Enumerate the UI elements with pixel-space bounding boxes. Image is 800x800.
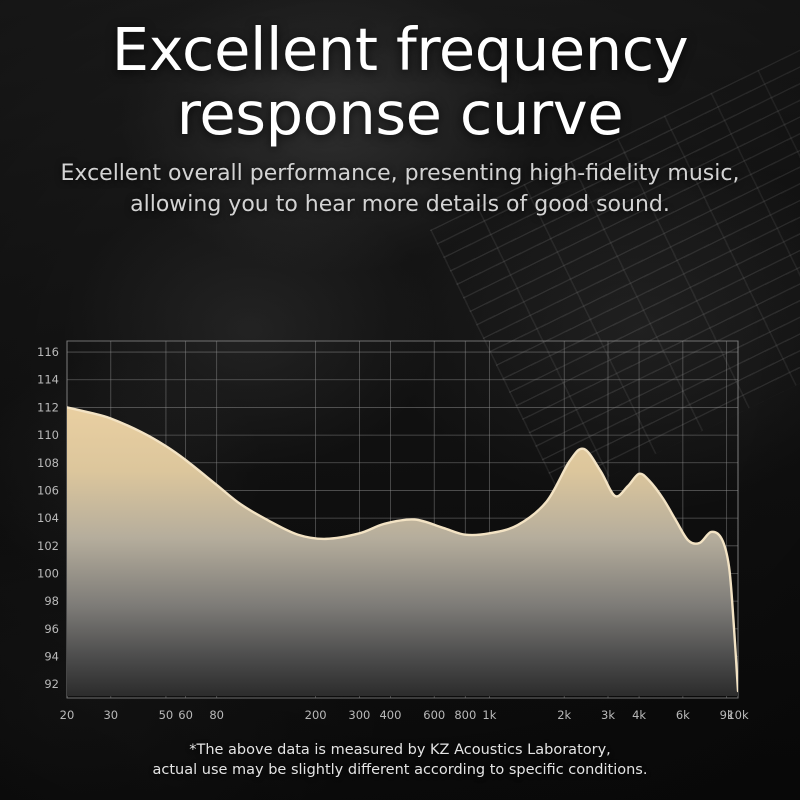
page-title: Excellent frequency response curve [0,0,800,146]
x-axis-tick-label: 50 [159,708,174,722]
y-axis-tick-label: 110 [37,428,59,442]
y-axis-tick-label: 106 [37,483,59,497]
title-line-2: response curve [0,82,800,146]
y-axis-tick-labels: 11611411211010810610410210098969492 [37,345,59,691]
y-axis-tick-label: 102 [37,539,59,553]
x-axis-tick-label: 80 [209,708,224,722]
subtitle-line-1: Excellent overall performance, presentin… [61,161,740,186]
y-axis-tick-label: 108 [37,456,59,470]
x-axis-tick-label: 1k [482,708,496,722]
y-axis-tick-label: 116 [37,345,59,359]
footnote-line-1: *The above data is measured by KZ Acoust… [189,742,611,758]
x-axis-tick-label: 300 [348,708,370,722]
subtitle-line-2: allowing you to hear more details of goo… [0,189,800,220]
y-axis-tick-label: 92 [44,677,59,691]
x-axis-tick-label: 20 [60,708,75,722]
x-axis-tick-label: 60 [178,708,193,722]
chart-area-fill [67,407,738,698]
y-axis-tick-label: 112 [37,400,59,414]
x-axis-tick-label: 6k [676,708,690,722]
chart-svg: 11611411211010810610410210098969492 2030… [0,325,800,725]
x-axis-tick-label: 800 [454,708,476,722]
x-axis-tick-label: 600 [423,708,445,722]
title-line-1: Excellent frequency [112,15,689,84]
x-axis-tick-label: 10k [727,708,749,722]
y-axis-tick-label: 114 [37,373,59,387]
footnote: *The above data is measured by KZ Acoust… [0,740,800,780]
y-axis-tick-label: 100 [37,566,59,580]
x-axis-tick-label: 30 [103,708,118,722]
y-axis-tick-label: 94 [44,649,59,663]
frequency-response-chart: 11611411211010810610410210098969492 2030… [0,325,800,725]
promo-page: Excellent frequency response curve Excel… [0,0,800,800]
x-axis-tick-label: 200 [305,708,327,722]
y-axis-tick-label: 104 [37,511,59,525]
page-subtitle: Excellent overall performance, presentin… [0,158,800,220]
curve-area [67,407,738,698]
footnote-line-2: actual use may be slightly different acc… [0,760,800,780]
x-axis-tick-label: 400 [379,708,401,722]
hero-section: Excellent frequency response curve Excel… [0,0,800,220]
y-axis-tick-label: 96 [44,622,59,636]
x-axis-tick-labels: 20305060802003004006008001k2k3k4k6k9k10k [60,708,749,722]
y-axis-tick-label: 98 [44,594,59,608]
x-axis-tick-label: 4k [632,708,646,722]
x-axis-tick-label: 2k [557,708,571,722]
x-axis-tick-label: 3k [601,708,615,722]
